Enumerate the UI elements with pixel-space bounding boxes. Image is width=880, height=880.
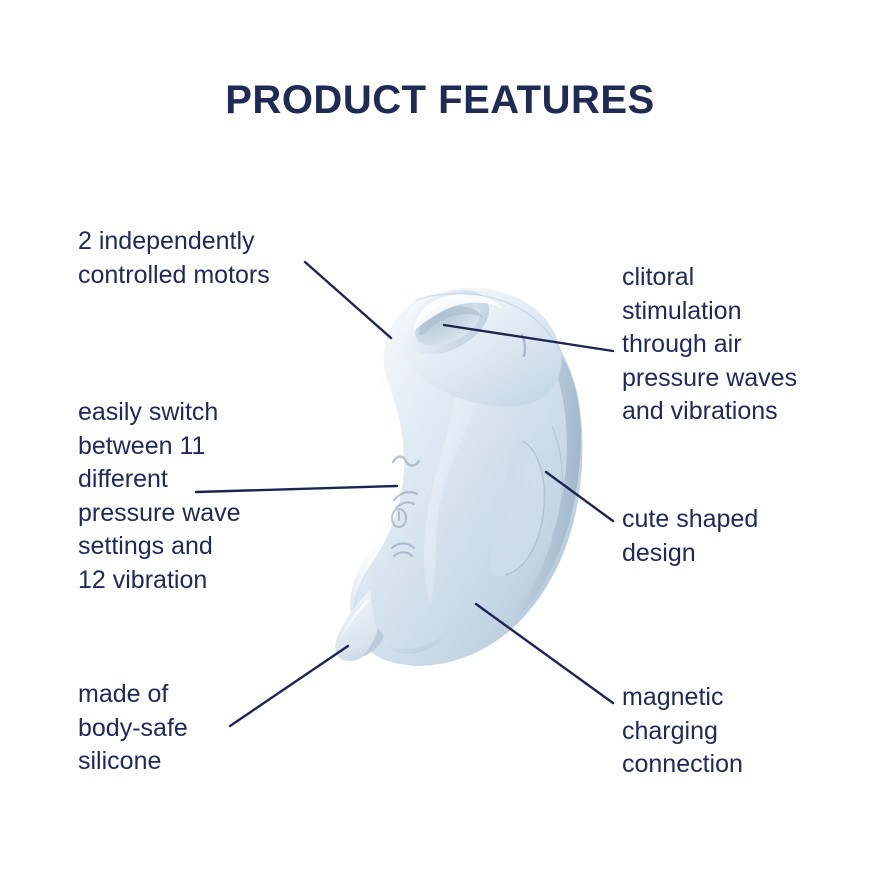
product-features-infographic: PRODUCT FEATURES 2 independently control… xyxy=(0,0,880,880)
callout-label-motors: 2 independently controlled motors xyxy=(78,225,338,292)
callout-label-magnetic: magnetic charging connection xyxy=(622,681,872,782)
product-illustration xyxy=(335,277,582,666)
callout-label-silicone: made of body-safe silicone xyxy=(78,678,308,779)
callout-label-settings: easily switch between 11 different press… xyxy=(78,396,318,597)
callout-label-cute: cute shaped design xyxy=(622,503,872,570)
callout-label-clitoral: clitoral stimulation through air pressur… xyxy=(622,261,880,429)
leader-line-magnetic xyxy=(476,604,613,703)
page-title: PRODUCT FEATURES xyxy=(0,78,880,123)
